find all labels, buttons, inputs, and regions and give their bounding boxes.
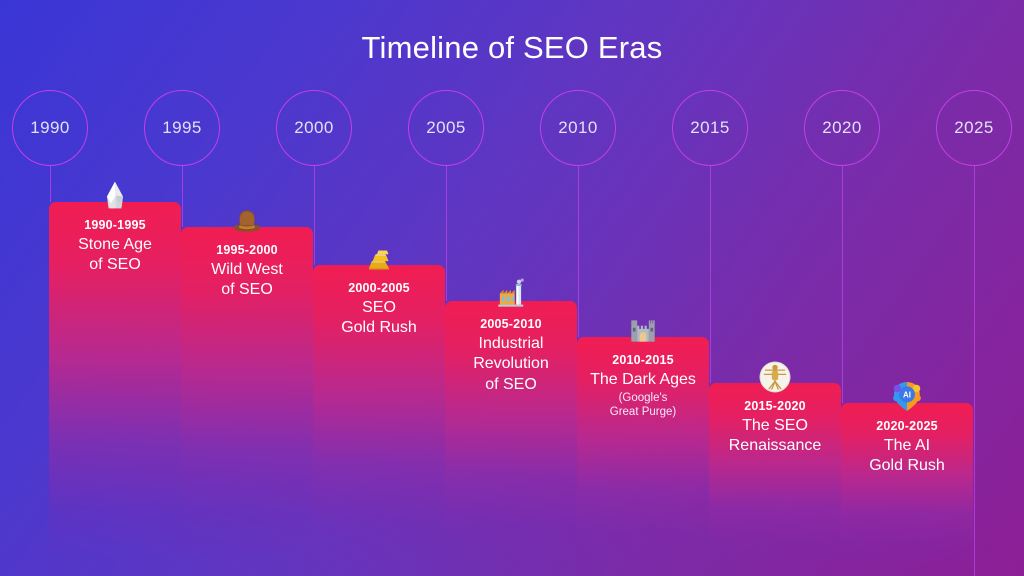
year-marker-2000[interactable]: 2000 (276, 90, 352, 166)
ai-brain-icon: AI (890, 380, 924, 414)
year-label: 1990 (30, 118, 69, 138)
year-marker-2005[interactable]: 2005 (408, 90, 484, 166)
era-card-body: 2010-2015The Dark Ages(Google's Great Pu… (577, 337, 709, 420)
connector-line-2015 (710, 166, 711, 383)
connector-line-1990 (50, 166, 51, 202)
connector-line-2020 (842, 166, 843, 403)
era-label: The SEO Renaissance (729, 416, 822, 457)
era-label: The Dark Ages (590, 370, 696, 390)
era-range: 2015-2020 (744, 399, 806, 413)
era-label: Stone Age of SEO (78, 235, 152, 276)
era-range: 2010-2015 (612, 353, 674, 367)
connector-line-2005 (446, 166, 447, 301)
gold-bars-icon (362, 242, 396, 276)
era-range: 2005-2010 (480, 317, 542, 331)
era-card-2005-2010[interactable]: 2005-2010Industrial Revolution of SEO (445, 301, 577, 576)
era-card-2010-2015[interactable]: 2010-2015The Dark Ages(Google's Great Pu… (577, 337, 709, 576)
era-label: Wild West of SEO (211, 260, 283, 301)
year-label: 2010 (558, 118, 597, 138)
year-marker-1990[interactable]: 1990 (12, 90, 88, 166)
page-title: Timeline of SEO Eras (0, 30, 1024, 66)
year-label: 2015 (690, 118, 729, 138)
svg-text:AI: AI (903, 391, 911, 400)
era-card-body: 1990-1995Stone Age of SEO (49, 202, 181, 276)
year-marker-1995[interactable]: 1995 (144, 90, 220, 166)
era-range: 2000-2005 (348, 281, 410, 295)
era-card-2015-2020[interactable]: 2015-2020The SEO Renaissance (709, 383, 841, 576)
year-marker-2010[interactable]: 2010 (540, 90, 616, 166)
connector-line-2000 (314, 166, 315, 265)
era-label: SEO Gold Rush (341, 298, 417, 339)
era-card-1995-2000[interactable]: 1995-2000Wild West of SEO (181, 227, 313, 576)
year-label: 2000 (294, 118, 333, 138)
year-label: 2025 (954, 118, 993, 138)
year-label: 2020 (822, 118, 861, 138)
era-card-body: 2005-2010Industrial Revolution of SEO (445, 301, 577, 395)
castle-icon (626, 314, 660, 348)
year-label: 1995 (162, 118, 201, 138)
era-card-body: 1995-2000Wild West of SEO (181, 227, 313, 301)
era-range: 1990-1995 (84, 218, 146, 232)
era-range: 1995-2000 (216, 243, 278, 257)
era-label: Industrial Revolution of SEO (473, 334, 549, 395)
timeline-canvas: Timeline of SEO Eras 1990199520002005201… (0, 0, 1024, 576)
era-card-2020-2025[interactable]: AI 2020-2025The AI Gold Rush (841, 403, 973, 576)
era-card-body: 2000-2005SEO Gold Rush (313, 265, 445, 339)
era-card-body: 2020-2025The AI Gold Rush (841, 403, 973, 477)
vitruvian-man-icon (758, 360, 792, 394)
era-card-1990-1995[interactable]: 1990-1995Stone Age of SEO (49, 202, 181, 576)
era-card-body: 2015-2020The SEO Renaissance (709, 383, 841, 457)
era-sublabel: (Google's Great Purge) (610, 391, 676, 419)
cowboy-hat-icon (230, 204, 264, 238)
connector-line-2025 (974, 166, 975, 576)
year-marker-2020[interactable]: 2020 (804, 90, 880, 166)
factory-icon (494, 278, 528, 312)
year-marker-2025[interactable]: 2025 (936, 90, 1012, 166)
rock-icon (98, 179, 132, 213)
connector-line-1995 (182, 166, 183, 227)
connector-line-2010 (578, 166, 579, 337)
era-label: The AI Gold Rush (869, 436, 945, 477)
year-marker-2015[interactable]: 2015 (672, 90, 748, 166)
era-range: 2020-2025 (876, 419, 938, 433)
era-card-2000-2005[interactable]: 2000-2005SEO Gold Rush (313, 265, 445, 576)
year-label: 2005 (426, 118, 465, 138)
